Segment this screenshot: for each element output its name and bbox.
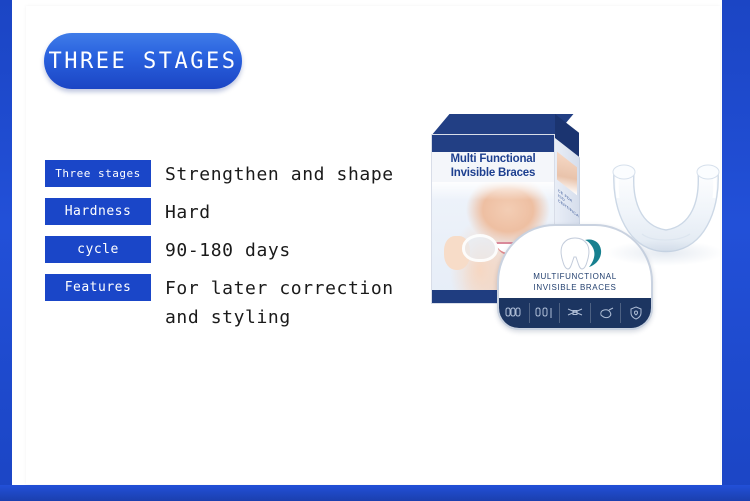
spec-label-hardness: Hardness xyxy=(45,198,151,225)
box-front-title-line1: Multi Functional xyxy=(432,153,554,167)
braces-wire-icon xyxy=(560,303,591,323)
badge-title: MULTIFUNCTIONAL INVISIBLE BRACES xyxy=(499,272,651,293)
spec-row-cycle: cycle 90-180 days xyxy=(45,236,435,265)
held-tray-icon xyxy=(462,234,498,262)
badge-title-line1: MULTIFUNCTIONAL xyxy=(499,272,651,283)
spec-value-hardness: Hard xyxy=(165,198,435,227)
box-lid-top-face xyxy=(431,114,573,136)
section-title-pill: THREE STAGES xyxy=(44,33,242,89)
bottom-edge-bar xyxy=(0,485,750,501)
tooth-brush-icon xyxy=(591,303,622,323)
spec-label-features: Features xyxy=(45,274,151,301)
tray-shadow xyxy=(606,240,724,266)
product-feature-banner: THREE STAGES Three stages Strengthen and… xyxy=(0,0,750,501)
spec-row-three-stages: Three stages Strengthen and shape xyxy=(45,160,435,189)
section-title-text: THREE STAGES xyxy=(49,49,238,74)
badge-icon-bar xyxy=(499,298,651,328)
spec-value-features: For later correction and styling xyxy=(165,274,435,332)
teeth-gap-icon xyxy=(530,303,561,323)
spec-row-hardness: Hardness Hard xyxy=(45,198,435,227)
clear-dental-tray xyxy=(598,164,732,272)
spec-table: Three stages Strengthen and shape Hardne… xyxy=(45,160,435,341)
box-front-top-band xyxy=(432,135,554,152)
badge-title-line2: INVISIBLE BRACES xyxy=(499,283,651,294)
shield-check-icon xyxy=(621,303,651,323)
photo-top-fade xyxy=(432,182,555,200)
teeth-aligned-icon xyxy=(499,303,530,323)
box-side-photo xyxy=(557,152,577,196)
spec-row-features: Features For later correction and stylin… xyxy=(45,274,435,332)
box-front-title-line2: Invisible Braces xyxy=(432,167,554,181)
spec-value-three-stages: Strengthen and shape xyxy=(165,160,435,189)
spec-value-cycle: 90-180 days xyxy=(165,236,435,265)
spec-label-three-stages: Three stages xyxy=(45,160,151,187)
left-edge-bar xyxy=(0,0,12,501)
spec-label-cycle: cycle xyxy=(45,236,151,263)
box-front-title: Multi Functional Invisible Braces xyxy=(432,153,554,180)
